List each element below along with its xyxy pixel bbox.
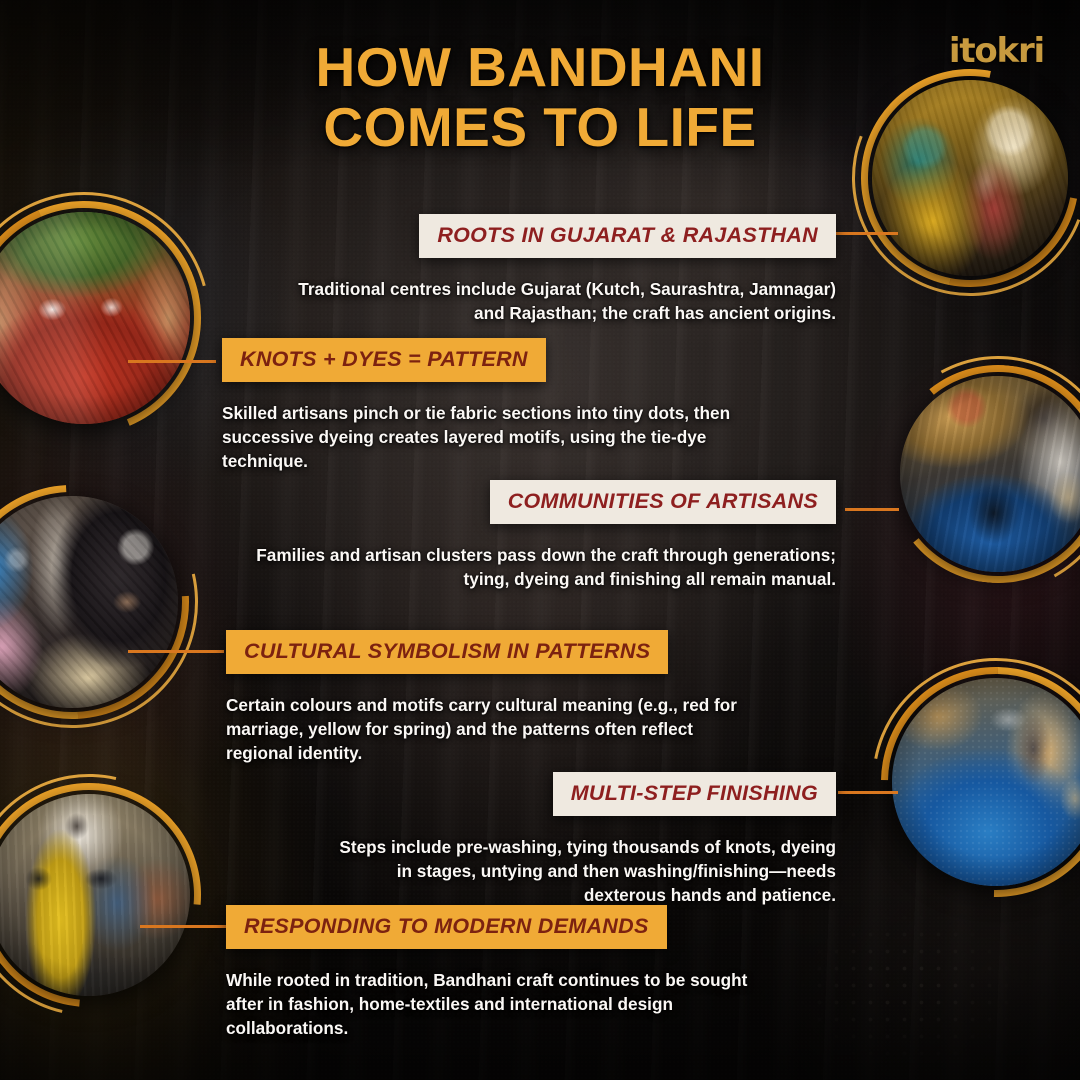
photo-indigo-dipping (892, 678, 1080, 886)
connector-line-2 (128, 360, 216, 363)
connector-line-1 (836, 232, 898, 235)
photo-elder-woman-tying (0, 496, 178, 708)
connector-line-3 (845, 508, 899, 511)
section-heading-1: ROOTS IN GUJARAT & RAJASTHAN (419, 214, 836, 258)
section-heading-2: KNOTS + DYES = PATTERN (222, 338, 546, 382)
photo-dyer-at-blue-vat (900, 376, 1080, 572)
infographic-poster: itokri HOW BANDHANI COMES TO LIFE (0, 0, 1080, 1080)
section-knots-dyes-pattern: KNOTS + DYES = PATTERN Skilled artisans … (222, 338, 782, 473)
section-roots-in-gujarat-rajasthan: ROOTS IN GUJARAT & RAJASTHAN Traditional… (240, 214, 836, 325)
section-heading-3: COMMUNITIES OF ARTISANS (490, 480, 836, 524)
section-body-1: Traditional centres include Gujarat (Kut… (240, 277, 836, 325)
photo-lifting-yellow-cloth (0, 794, 190, 996)
section-cultural-symbolism-in-patterns: CULTURAL SYMBOLISM IN PATTERNS Certain c… (226, 630, 796, 765)
section-heading-6: RESPONDING TO MODERN DEMANDS (226, 905, 667, 949)
photo-hands-tying-red-fabric (0, 212, 190, 424)
section-body-2: Skilled artisans pinch or tie fabric sec… (222, 401, 782, 473)
section-body-6: While rooted in tradition, Bandhani craf… (226, 968, 806, 1040)
section-body-4: Certain colours and motifs carry cultura… (226, 693, 796, 765)
section-responding-to-modern-demands: RESPONDING TO MODERN DEMANDS While roote… (226, 905, 806, 1040)
section-heading-5: MULTI-STEP FINISHING (553, 772, 836, 816)
section-communities-of-artisans: COMMUNITIES OF ARTISANS Families and art… (224, 480, 836, 591)
section-body-3: Families and artisan clusters pass down … (224, 543, 836, 591)
section-multi-step-finishing: MULTI-STEP FINISHING Steps include pre-w… (236, 772, 836, 907)
connector-line-5 (838, 791, 898, 794)
photo-two-women-tying-knots (872, 80, 1068, 276)
section-heading-4: CULTURAL SYMBOLISM IN PATTERNS (226, 630, 668, 674)
section-body-5: Steps include pre-washing, tying thousan… (236, 835, 836, 907)
connector-line-4 (128, 650, 224, 653)
connector-line-6 (140, 925, 226, 928)
